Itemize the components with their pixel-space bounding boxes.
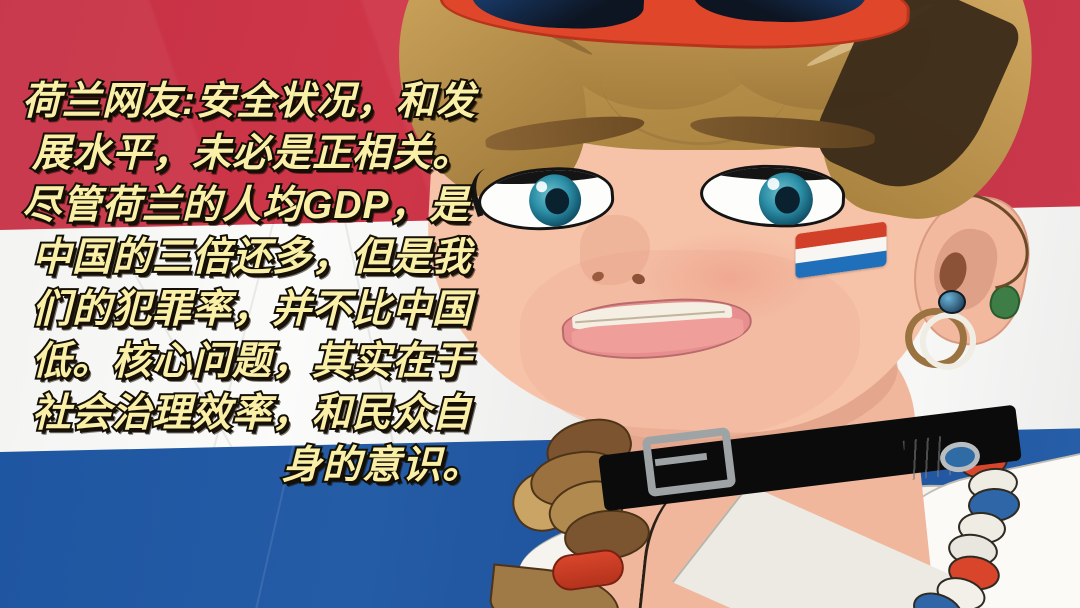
caption-line-7: 社会治理效率，和民众自: [22, 388, 482, 440]
image-canvas: 荷兰网友:安全状况，和发 展水平，未必是正相关。 尽管荷兰的人均GDP，是 中国…: [0, 0, 1080, 608]
caption-line-6: 低。核心问题，其实在于: [22, 336, 482, 388]
caption-line-8: 身的意识。: [22, 440, 482, 492]
caption-line-2: 展水平，未必是正相关。: [22, 128, 482, 180]
caption-text-block: 荷兰网友:安全状况，和发 展水平，未必是正相关。 尽管荷兰的人均GDP，是 中国…: [22, 76, 482, 492]
caption-line-1: 荷兰网友:安全状况，和发: [22, 76, 482, 128]
ear-stud-earring: [938, 290, 966, 314]
caption-line-4: 中国的三倍还多，但是我: [22, 232, 482, 284]
caption-line-3: 尽管荷兰的人均GDP，是: [22, 180, 482, 232]
caption-line-5: 们的犯罪率，并不比中国: [22, 284, 482, 336]
